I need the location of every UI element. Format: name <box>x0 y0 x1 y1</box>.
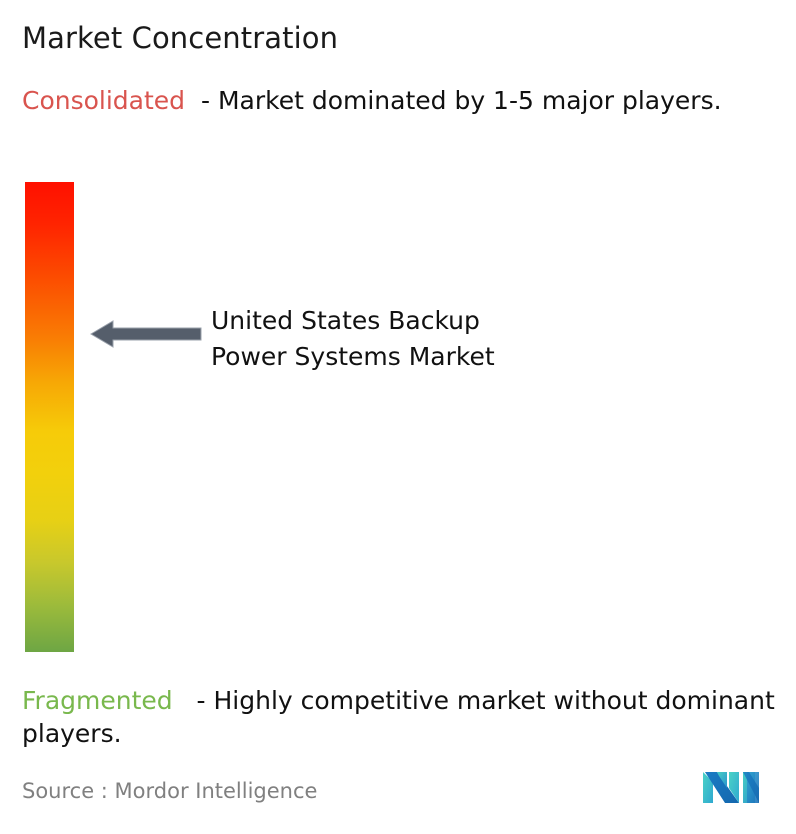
legend-consolidated: Consolidated - Market dominated by 1-5 m… <box>22 84 770 117</box>
legend-consolidated-keyword: Consolidated <box>22 86 185 115</box>
arrow-shape <box>91 321 201 347</box>
source-attribution: Source : Mordor Intelligence <box>22 777 317 805</box>
market-concentration-infographic: Market Concentration Consolidated - Mark… <box>0 0 796 834</box>
legend-fragmented-separator: - <box>173 686 214 715</box>
legend-consolidated-description: Market dominated by 1-5 major players. <box>218 86 722 115</box>
concentration-gradient-bar <box>25 182 74 652</box>
page-title: Market Concentration <box>22 20 338 56</box>
mordor-intelligence-logo-icon <box>703 770 765 804</box>
legend-fragmented-keyword: Fragmented <box>22 686 173 715</box>
legend-consolidated-separator: - <box>185 86 218 115</box>
legend-fragmented: Fragmented - Highly competitive market w… <box>22 684 788 750</box>
callout-market-label: United States Backup Power Systems Marke… <box>211 303 495 375</box>
pointer-arrow-icon <box>90 318 202 350</box>
